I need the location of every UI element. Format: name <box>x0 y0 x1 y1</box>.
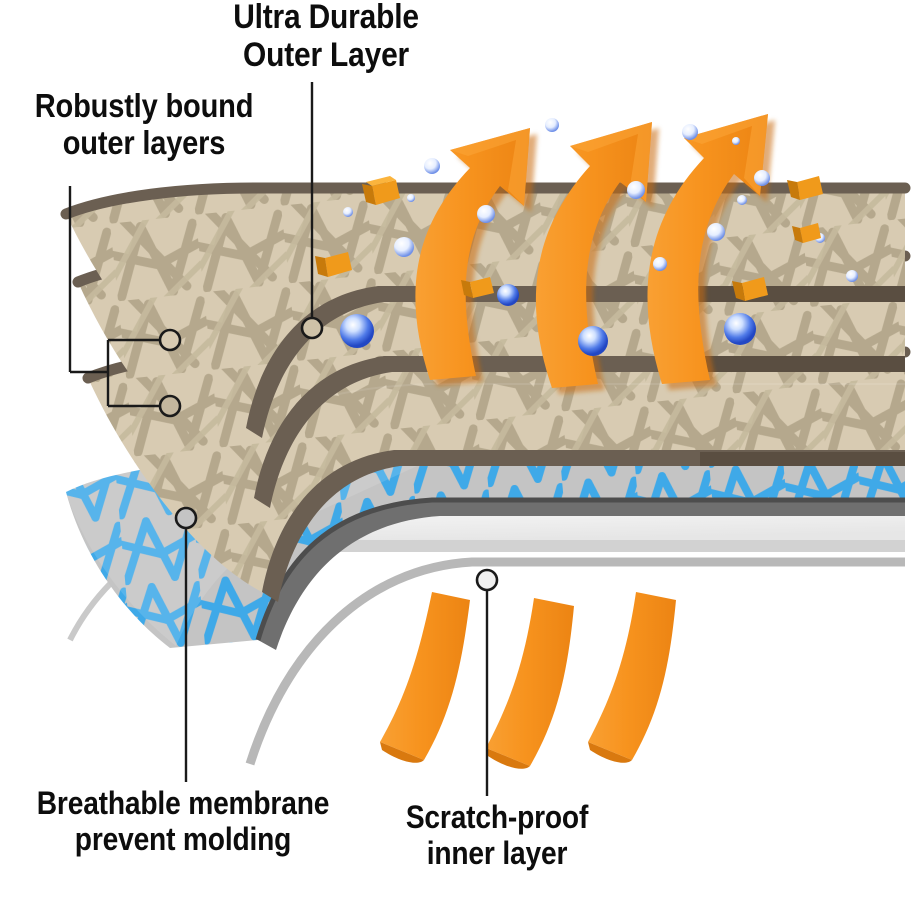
down-arrow-2 <box>486 598 574 769</box>
callout-ultra-durable-outer-layer: Ultra Durable Outer Layer <box>212 0 441 74</box>
diagram-canvas: Ultra Durable Outer Layer Robustly bound… <box>0 0 916 902</box>
down-arrows-group <box>380 592 676 769</box>
down-arrow-1 <box>380 592 470 763</box>
callout-breathable-membrane: Breathable membrane prevent molding <box>20 786 346 858</box>
callout-robustly-bound-outer-layers: Robustly bound outer layers <box>19 88 269 162</box>
down-arrow-3 <box>588 592 676 763</box>
callout-scratch-proof-inner-layer: Scratch-proof inner layer <box>378 800 616 872</box>
